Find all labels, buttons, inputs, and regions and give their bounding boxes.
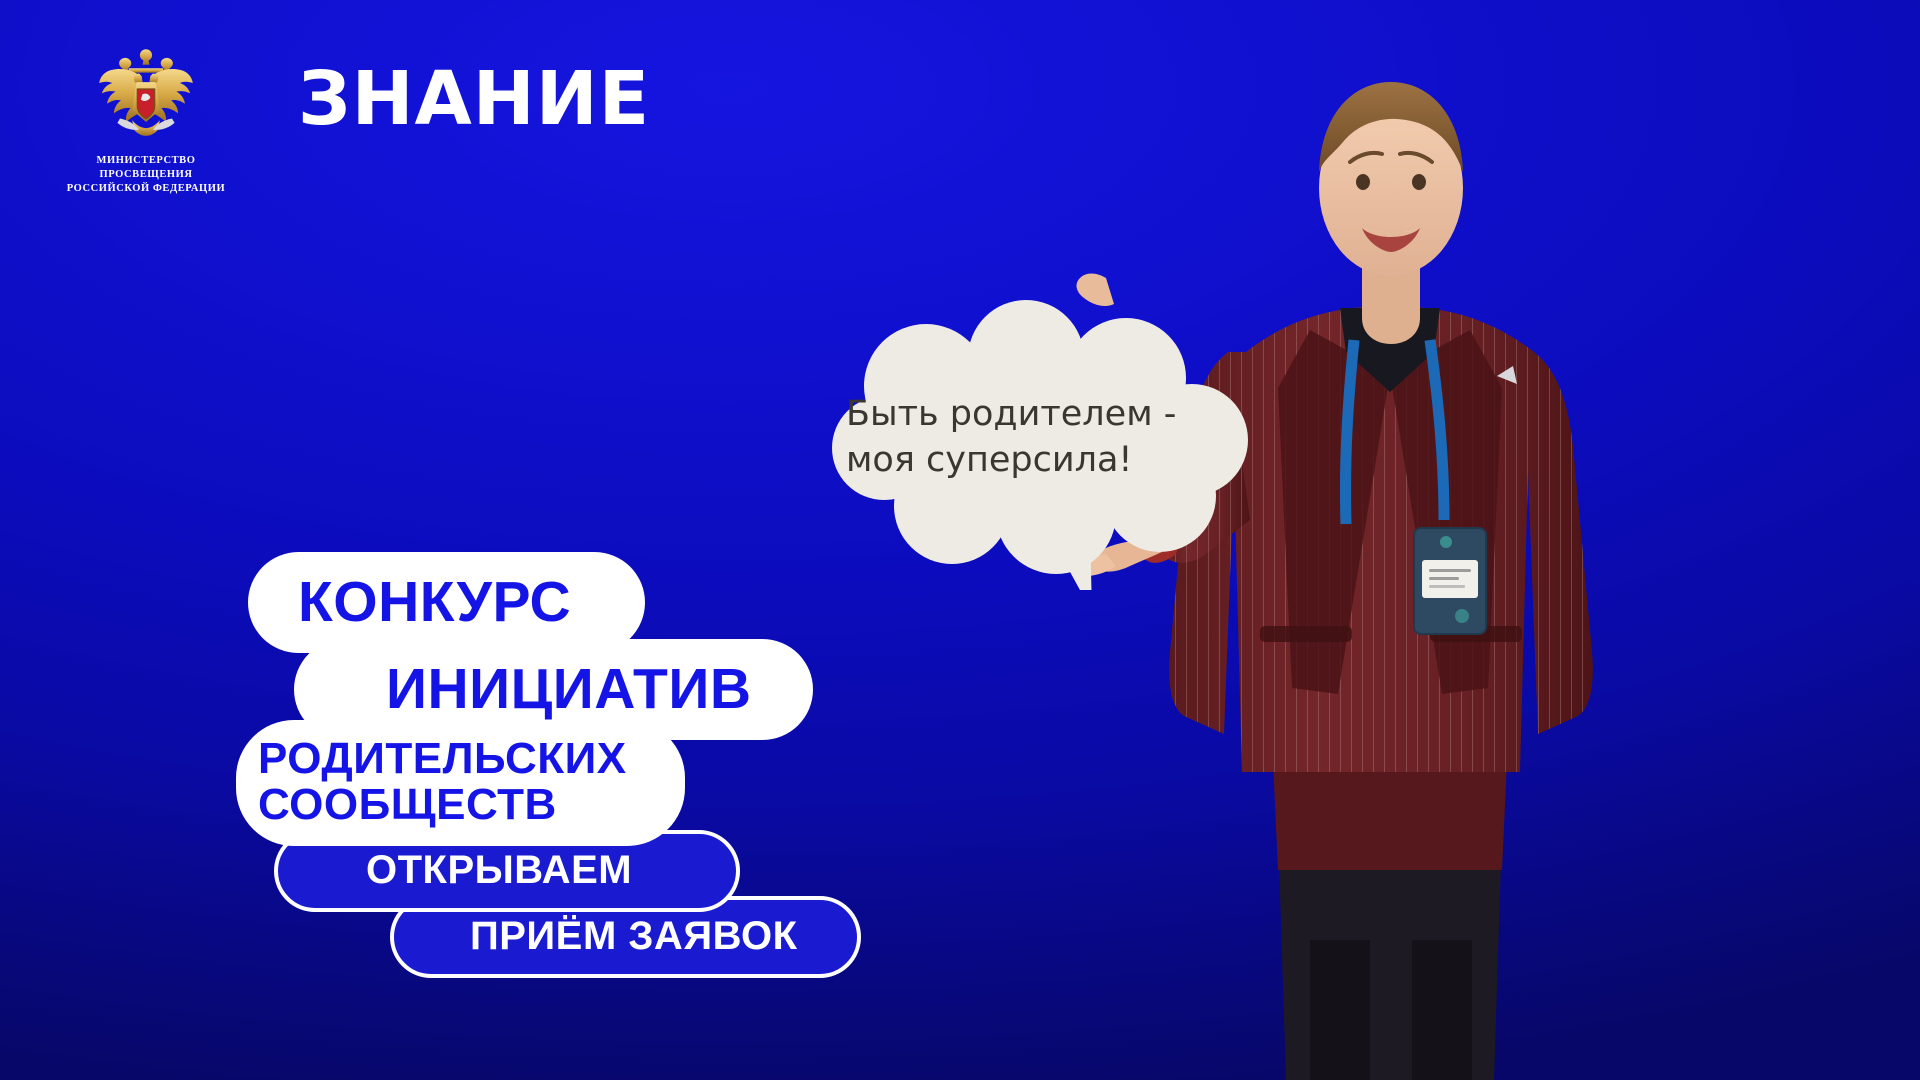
headline-stack: КОНКУРС ИНИЦИАТИВ РОДИТЕЛЬСКИХ СООБЩЕСТВ… [248, 552, 861, 978]
russian-double-headed-eagle-emblem-icon [94, 44, 198, 148]
ministry-lockup: МИНИСТЕРСТВО ПРОСВЕЩЕНИЯ РОССИЙСКОЙ ФЕДЕ… [52, 40, 240, 196]
ministry-name-label: МИНИСТЕРСТВО ПРОСВЕЩЕНИЯ РОССИЙСКОЙ ФЕДЕ… [52, 154, 240, 196]
headline-konkurs-label: КОНКУРС [298, 574, 571, 631]
speech-bubble-text: Быть родителем - моя суперсила! [846, 392, 1232, 483]
speech-bubble: Быть родителем - моя суперсила! [810, 300, 1260, 590]
znanie-brand-wordmark: ЗНАНИЕ [298, 62, 650, 136]
conference-lanyard-badge-icon [1414, 528, 1486, 634]
promo-poster: МИНИСТЕРСТВО ПРОСВЕЩЕНИЯ РОССИЙСКОЙ ФЕДЕ… [0, 0, 1920, 1080]
headline-roditelskih-label: РОДИТЕЛЬСКИХ [258, 736, 627, 782]
headline-line-konkurs: КОНКУРС [248, 552, 645, 653]
cta-otkryvaem-label: ОТКРЫВАЕМ [366, 850, 632, 890]
headline-line-initiativ: ИНИЦИАТИВ [294, 639, 813, 740]
headline-soobshchestv-label: СООБЩЕСТВ [258, 782, 557, 828]
cta-priem-zayavok-label: ПРИЁМ ЗАЯВОК [470, 916, 797, 956]
headline-initiativ-label: ИНИЦИАТИВ [386, 661, 751, 718]
header-logo-bar: МИНИСТЕРСТВО ПРОСВЕЩЕНИЯ РОССИЙСКОЙ ФЕДЕ… [52, 40, 650, 196]
